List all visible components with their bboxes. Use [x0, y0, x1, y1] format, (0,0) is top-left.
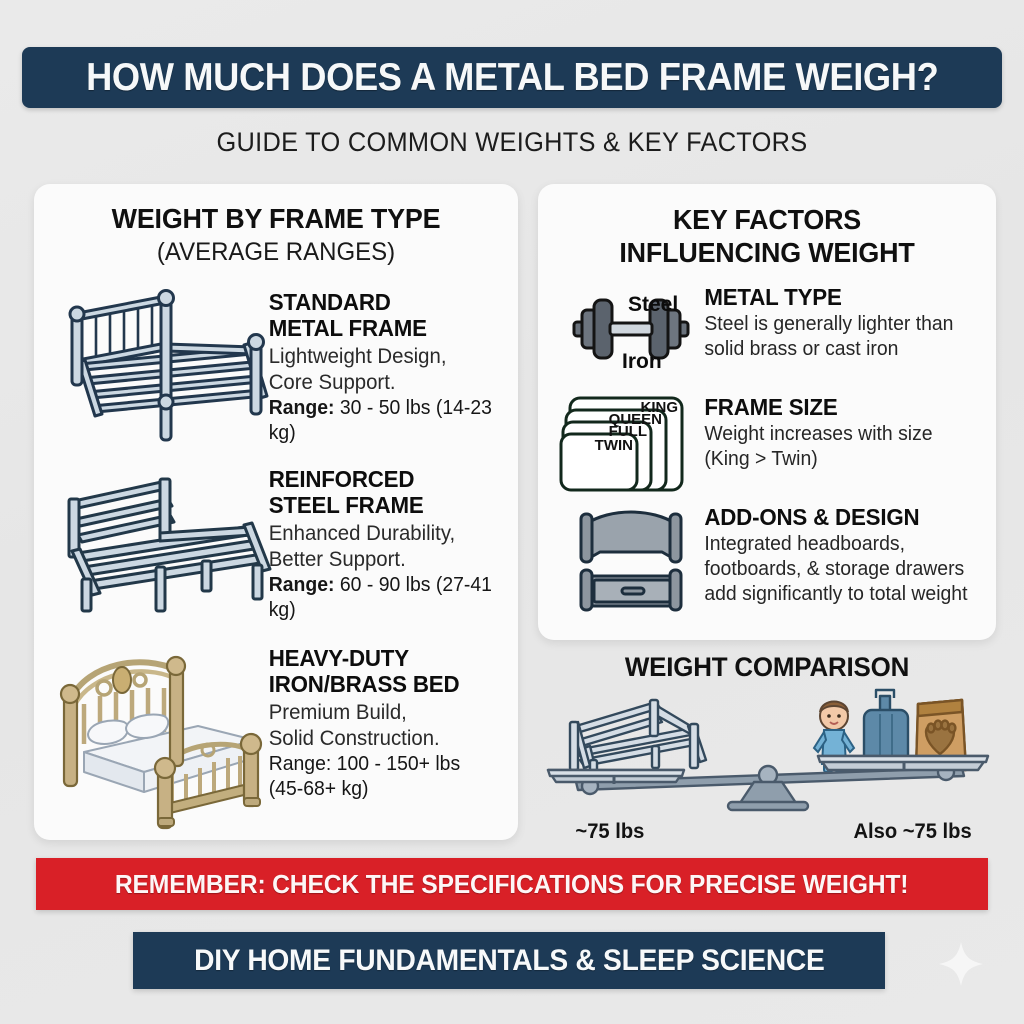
weight-by-frame-type-card: WEIGHT BY FRAME TYPE (AVERAGE RANGES) — [34, 184, 518, 840]
page-title: HOW MUCH DOES A METAL BED FRAME WEIGH? — [86, 56, 938, 100]
frame-type-title-line1: HEAVY-DUTY — [269, 645, 409, 671]
brand-banner: DIY HOME FUNDAMENTALS & SLEEP SCIENCE — [133, 932, 885, 989]
frame-type-desc-line1: Lightweight Design, — [269, 345, 447, 368]
key-factor-title: METAL TYPE — [704, 284, 985, 311]
frame-type-range-value-line2: (45-68+ kg) — [269, 778, 369, 800]
headboard-storage-drawer-icon — [562, 504, 700, 608]
frame-type-title-line2: METAL FRAME — [269, 315, 427, 341]
frame-type-title-line1: REINFORCED — [269, 466, 415, 492]
key-factors-card: KEY FACTORS INFLUENCING WEIGHT Steel — [538, 184, 996, 640]
frame-type-row: REINFORCED STEEL FRAME Enhanced Durabili… — [34, 467, 518, 647]
comparison-heading: WEIGHT COMPARISON — [547, 652, 987, 683]
key-factor-desc-line1: Weight increases with size — [704, 423, 932, 445]
infographic-page: HOW MUCH DOES A METAL BED FRAME WEIGH? G… — [0, 0, 1024, 1024]
right-panel-heading-line1: KEY FACTORS — [673, 204, 861, 235]
frame-type-title-line2: STEEL FRAME — [269, 492, 424, 518]
dumbbell-label-top: Steel — [628, 293, 678, 316]
key-factor-title: FRAME SIZE — [704, 394, 985, 421]
frame-type-desc-line2: Better Support. — [269, 548, 406, 571]
frame-type-text: STANDARD METAL FRAME Lightweight Design,… — [265, 290, 513, 446]
reminder-banner: REMEMBER: CHECK THE SPECIFICATIONS FOR P… — [36, 858, 988, 910]
heavy-duty-iron-brass-bed-illustration — [48, 648, 286, 826]
frame-type-range-label: Range: — [269, 574, 335, 596]
frame-type-title-line1: STANDARD — [269, 289, 391, 315]
title-banner: HOW MUCH DOES A METAL BED FRAME WEIGH? — [22, 47, 1002, 108]
frame-type-text: HEAVY-DUTY IRON/BRASS BED Premium Build,… — [265, 646, 513, 802]
balance-scale-icon — [542, 686, 994, 808]
key-factor-desc-line2: solid brass or cast iron — [704, 338, 898, 360]
frame-type-range-label: Range: — [269, 397, 335, 419]
sparkle-icon — [935, 938, 987, 990]
frame-type-range-label: Range: — [269, 753, 332, 775]
right-panel-heading-line2: INFLUENCING WEIGHT — [619, 237, 914, 268]
dumbbell-icon: Steel Iron — [562, 284, 700, 388]
reinforced-steel-bed-frame-illustration — [48, 467, 284, 617]
frame-type-desc-line2: Solid Construction. — [269, 727, 440, 750]
svg-text:TWIN: TWIN — [595, 437, 633, 454]
key-factor-desc-line2: (King > Twin) — [704, 448, 817, 470]
key-factor-title: ADD-ONS & DESIGN — [704, 504, 985, 531]
frame-type-desc-line1: Enhanced Durability, — [269, 522, 455, 545]
metal-bed-frame-illustration — [570, 700, 706, 774]
nested-mattress-sizes-icon: KING QUEEN FULL TWIN — [562, 394, 700, 498]
brand-text: DIY HOME FUNDAMENTALS & SLEEP SCIENCE — [194, 944, 824, 978]
frame-type-title-line2: IRON/BRASS BED — [269, 671, 460, 697]
reminder-text: REMEMBER: CHECK THE SPECIFICATIONS FOR P… — [115, 869, 908, 900]
frame-type-desc-line2: Core Support. — [269, 371, 396, 394]
left-panel-heading: WEIGHT BY FRAME TYPE — [44, 203, 509, 235]
frame-type-desc-line1: Premium Build, — [269, 701, 407, 724]
weight-comparison-section: WEIGHT COMPARISON — [538, 652, 996, 844]
standard-metal-bed-frame-illustration — [48, 290, 284, 440]
key-factor-desc-line3: add significantly to total weight — [704, 583, 967, 605]
comparison-left-label: ~75 lbs — [575, 820, 644, 844]
frame-type-row: STANDARD METAL FRAME Lightweight Design,… — [34, 290, 518, 465]
frame-type-range-value: 100 - 150+ lbs — [337, 753, 461, 775]
comparison-right-label: Also ~75 lbs — [853, 820, 971, 844]
key-factor-desc-line1: Integrated headboards, — [704, 533, 905, 555]
page-subtitle: GUIDE TO COMMON WEIGHTS & KEY FACTORS — [31, 127, 994, 158]
svg-text:Iron: Iron — [622, 350, 662, 373]
frame-type-text: REINFORCED STEEL FRAME Enhanced Durabili… — [265, 467, 513, 623]
key-factor-desc-line1: Steel is generally lighter than — [704, 313, 953, 335]
key-factor-desc-line2: footboards, & storage drawers — [704, 558, 964, 580]
frame-type-row: HEAVY-DUTY IRON/BRASS BED Premium Build,… — [34, 646, 518, 841]
left-panel-subheading: (AVERAGE RANGES) — [44, 238, 509, 267]
